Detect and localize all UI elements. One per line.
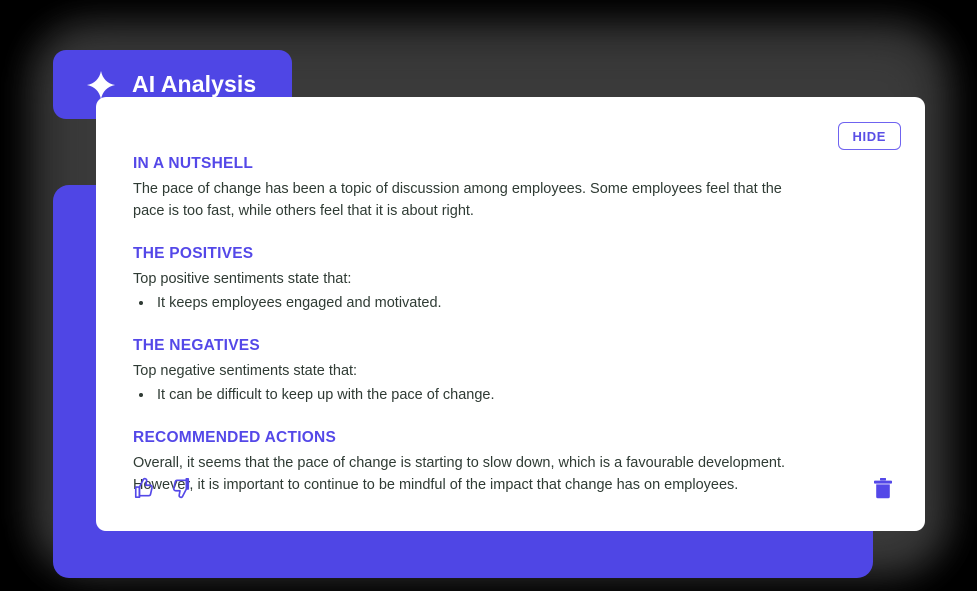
list-item: It keeps employees engaged and motivated… <box>154 292 895 314</box>
section-heading: THE POSITIVES <box>133 245 895 263</box>
section-the-positives: THE POSITIVES Top positive sentiments st… <box>133 245 895 314</box>
section-paragraph: Top positive sentiments state that: <box>133 268 803 290</box>
card-footer <box>133 477 895 503</box>
feedback-controls <box>133 477 191 499</box>
section-heading: THE NEGATIVES <box>133 337 895 355</box>
section-bullet-list: It keeps employees engaged and motivated… <box>154 292 895 314</box>
hide-button[interactable]: HIDE <box>838 122 901 150</box>
section-in-a-nutshell: IN A NUTSHELL The pace of change has bee… <box>133 155 895 222</box>
section-the-negatives: THE NEGATIVES Top negative sentiments st… <box>133 337 895 406</box>
thumbs-down-button[interactable] <box>169 477 191 499</box>
delete-button[interactable] <box>873 477 893 499</box>
section-heading: RECOMMENDED ACTIONS <box>133 429 895 447</box>
thumbs-up-button[interactable] <box>133 477 155 499</box>
analysis-content: IN A NUTSHELL The pace of change has bee… <box>133 155 895 496</box>
section-paragraph: The pace of change has been a topic of d… <box>133 178 803 222</box>
list-item: It can be difficult to keep up with the … <box>154 384 895 406</box>
thumbs-down-icon <box>169 477 191 499</box>
ai-analysis-card: HIDE IN A NUTSHELL The pace of change ha… <box>96 97 925 531</box>
trash-icon <box>873 477 893 499</box>
thumbs-up-icon <box>133 477 155 499</box>
section-paragraph: Top negative sentiments state that: <box>133 360 803 382</box>
screenshot-stage: AI Analysis HIDE IN A NUTSHELL The pace … <box>0 0 977 591</box>
section-bullet-list: It can be difficult to keep up with the … <box>154 384 895 406</box>
sparkle-icon <box>86 70 116 100</box>
section-heading: IN A NUTSHELL <box>133 155 895 173</box>
ai-analysis-tab-label: AI Analysis <box>132 71 256 98</box>
